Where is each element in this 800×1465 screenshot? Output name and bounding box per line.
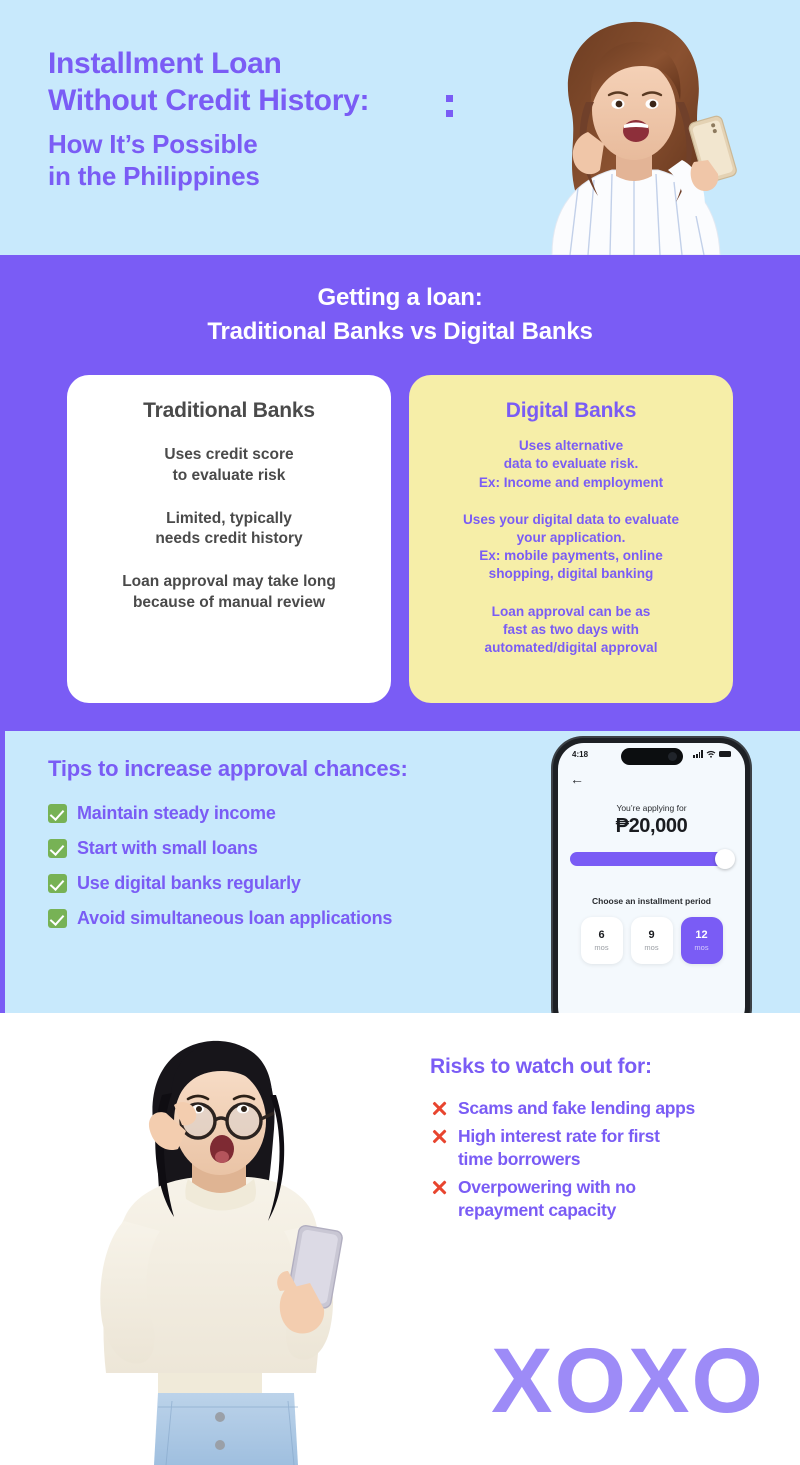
tips-panel: Tips to increase approval chances: Maint… xyxy=(5,731,800,1013)
tips-list: Maintain steady income Start with small … xyxy=(48,803,392,943)
digital-point: Loan approval can be asfast as two days … xyxy=(425,603,717,658)
amount-slider[interactable] xyxy=(570,852,733,866)
decorative-square-1 xyxy=(446,95,453,102)
check-icon xyxy=(48,839,67,858)
comparison-cards: Traditional Banks Uses credit scoreto ev… xyxy=(0,375,800,703)
comparison-section: Getting a loan: Traditional Banks vs Dig… xyxy=(0,255,800,731)
check-icon xyxy=(48,804,67,823)
back-arrow-icon[interactable]: ← xyxy=(570,771,745,787)
cross-icon xyxy=(430,1176,449,1198)
comparison-heading-line-1: Getting a loan: xyxy=(317,284,482,311)
cross-icon xyxy=(430,1125,449,1147)
title-line-4: in the Philippines xyxy=(48,161,369,193)
period-unit: mos xyxy=(644,943,658,952)
period-number: 12 xyxy=(695,929,707,941)
tip-label: Use digital banks regularly xyxy=(77,873,301,894)
installment-period-options: 6 mos 9 mos 12 mos xyxy=(558,917,745,964)
page-title: Installment Loan Without Credit History:… xyxy=(48,46,369,193)
traditional-banks-points: Uses credit scoreto evaluate risk Limite… xyxy=(83,445,375,614)
traditional-point: Loan approval may take longbecause of ma… xyxy=(83,572,375,614)
digital-banks-points: Uses alternativedata to evaluate risk.Ex… xyxy=(425,437,717,657)
period-unit: mos xyxy=(594,943,608,952)
digital-banks-title: Digital Banks xyxy=(425,399,717,423)
status-indicators xyxy=(693,750,731,758)
period-number: 9 xyxy=(648,929,654,941)
hero-photo-excited-woman xyxy=(508,10,758,255)
tip-label: Avoid simultaneous loan applications xyxy=(77,908,392,929)
digital-point: Uses alternativedata to evaluate risk.Ex… xyxy=(425,437,717,492)
comparison-heading: Getting a loan: Traditional Banks vs Dig… xyxy=(0,281,800,349)
traditional-point: Uses credit scoreto evaluate risk xyxy=(83,445,375,487)
list-item: Avoid simultaneous loan applications xyxy=(48,908,392,929)
brand-logo: XOXO xyxy=(491,1335,765,1427)
hero-section: Installment Loan Without Credit History:… xyxy=(0,0,800,255)
risks-section: Risks to watch out for: Scams and fake l… xyxy=(0,1013,800,1465)
status-time: 4:18 xyxy=(572,750,588,759)
comparison-heading-line-2: Traditional Banks vs Digital Banks xyxy=(207,318,592,345)
signal-icon xyxy=(693,750,703,758)
period-option-9[interactable]: 9 mos xyxy=(631,917,673,964)
list-item: Overpowering with norepayment capacity xyxy=(430,1176,780,1221)
tip-label: Maintain steady income xyxy=(77,803,276,824)
footer-photo-surprised-woman xyxy=(62,1021,362,1465)
title-line-3: How It’s Possible xyxy=(48,129,369,161)
tip-label: Start with small loans xyxy=(77,838,258,859)
period-option-12[interactable]: 12 mos xyxy=(681,917,723,964)
traditional-point: Limited, typicallyneeds credit history xyxy=(83,509,375,551)
status-bar: 4:18 xyxy=(558,743,745,765)
risk-label: Scams and fake lending apps xyxy=(458,1097,695,1119)
risks-heading: Risks to watch out for: xyxy=(430,1055,780,1079)
title-line-2: Without Credit History: xyxy=(48,83,369,120)
decorative-square-2 xyxy=(446,110,453,117)
risks-panel: Risks to watch out for: Scams and fake l… xyxy=(430,1055,780,1227)
cross-icon xyxy=(430,1097,449,1119)
check-icon xyxy=(48,909,67,928)
dynamic-island xyxy=(621,748,683,765)
risk-label: High interest rate for firsttime borrowe… xyxy=(458,1125,660,1170)
list-item: Scams and fake lending apps xyxy=(430,1097,780,1119)
traditional-banks-card: Traditional Banks Uses credit scoreto ev… xyxy=(67,375,391,703)
loan-amount: ₱20,000 xyxy=(558,815,745,838)
tips-heading: Tips to increase approval chances: xyxy=(48,756,408,782)
list-item: Start with small loans xyxy=(48,838,392,859)
wifi-icon xyxy=(706,750,716,758)
list-item: Use digital banks regularly xyxy=(48,873,392,894)
period-number: 6 xyxy=(598,929,604,941)
list-item: Maintain steady income xyxy=(48,803,392,824)
check-icon xyxy=(48,874,67,893)
phone-mockup: 4:18 ← You’re applying for ₱20,000 xyxy=(553,738,750,1013)
risk-label: Overpowering with norepayment capacity xyxy=(458,1176,636,1221)
battery-icon xyxy=(719,751,731,757)
installment-period-label: Choose an installment period xyxy=(558,896,745,906)
applying-label: You’re applying for xyxy=(558,803,745,813)
phone-screen: 4:18 ← You’re applying for ₱20,000 xyxy=(558,743,745,1013)
slider-knob[interactable] xyxy=(715,849,735,869)
title-line-1: Installment Loan xyxy=(48,46,369,83)
period-option-6[interactable]: 6 mos xyxy=(581,917,623,964)
digital-banks-card: Digital Banks Uses alternativedata to ev… xyxy=(409,375,733,703)
list-item: High interest rate for firsttime borrowe… xyxy=(430,1125,780,1170)
period-unit: mos xyxy=(694,943,708,952)
traditional-banks-title: Traditional Banks xyxy=(83,399,375,423)
tips-section: Tips to increase approval chances: Maint… xyxy=(0,731,800,1013)
digital-point: Uses your digital data to evaluateyour a… xyxy=(425,511,717,584)
